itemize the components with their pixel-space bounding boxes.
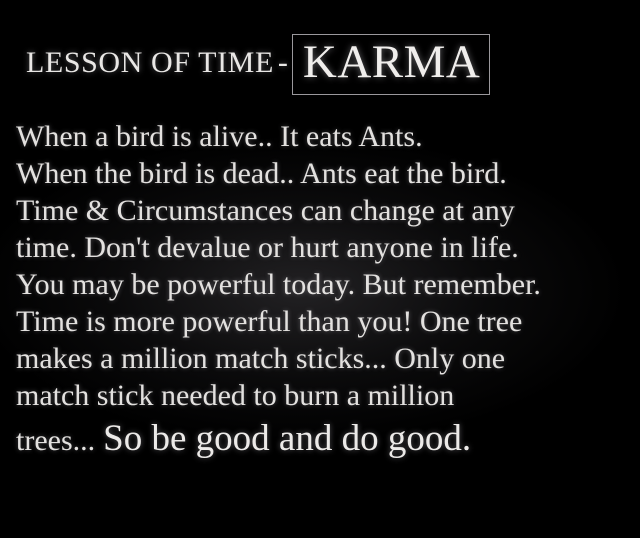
quote-line: makes a million match sticks... Only one <box>16 340 628 377</box>
quote-line: Time & Circumstances can change at any <box>16 192 628 229</box>
quote-closing-statement: So be good and do good. <box>95 418 471 459</box>
quote-line: When a bird is alive.. It eats Ants. <box>16 118 628 155</box>
karma-word: KARMA <box>303 39 480 90</box>
title-dash: - <box>274 48 290 81</box>
karma-box: KARMA <box>292 34 490 95</box>
quote-body: When a bird is alive.. It eats Ants. Whe… <box>16 118 628 466</box>
quote-final-prefix: trees... <box>16 424 95 457</box>
quote-line: When the bird is dead.. Ants eat the bir… <box>16 155 628 192</box>
quote-line: Time is more powerful than you! One tree <box>16 303 628 340</box>
quote-line: time. Don't devalue or hurt anyone in li… <box>16 229 628 266</box>
quote-line: match stick needed to burn a million <box>16 377 628 414</box>
title-lead-text: LESSON OF TIME <box>26 48 274 81</box>
karma-quote-poster: LESSON OF TIME - KARMA When a bird is al… <box>0 0 640 538</box>
quote-final-line: trees...So be good and do good. <box>16 414 628 466</box>
quote-line: You may be powerful today. But remember. <box>16 266 628 303</box>
poster-title: LESSON OF TIME - KARMA <box>26 33 490 96</box>
